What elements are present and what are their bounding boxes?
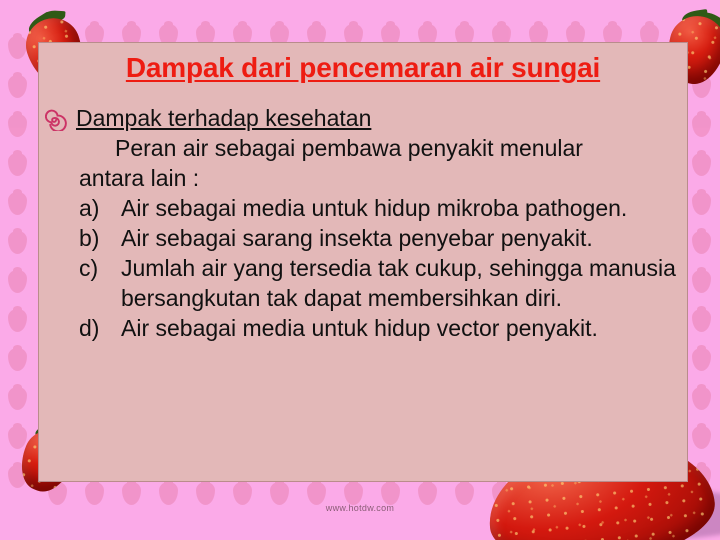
content-panel: Dampak dari pencemaran air sungai Dampak… bbox=[38, 42, 688, 482]
strawberry-shadow bbox=[520, 488, 720, 540]
strawberry-silhouette-icon bbox=[8, 270, 27, 293]
strawberry-silhouette-icon bbox=[233, 482, 252, 505]
strawberry-silhouette-icon bbox=[8, 387, 27, 410]
list-item: b)Air sebagai sarang insekta penyebar pe… bbox=[79, 223, 679, 253]
strawberry-silhouette-icon bbox=[566, 482, 585, 505]
list-item: a)Air sebagai media untuk hidup mikroba … bbox=[79, 193, 679, 223]
list-item-marker: a) bbox=[79, 193, 115, 223]
strawberry-silhouette-icon bbox=[307, 482, 326, 505]
body-intro-line-2: antara lain : bbox=[79, 163, 679, 193]
strawberry-silhouette-icon bbox=[8, 75, 27, 98]
list-item-text: Air sebagai media untuk hidup vector pen… bbox=[121, 315, 598, 341]
list-item-text: Air sebagai media untuk hidup mikroba pa… bbox=[121, 195, 627, 221]
strawberry-leaf-icon bbox=[681, 9, 709, 25]
strawberry-silhouette-icon bbox=[692, 231, 711, 254]
strawberry-silhouette-icon bbox=[692, 192, 711, 215]
strawberry-silhouette-icon bbox=[48, 482, 67, 505]
berry-border-left bbox=[6, 22, 32, 502]
slide-canvas: Dampak dari pencemaran air sungai Dampak… bbox=[0, 0, 720, 540]
strawberry-leaf-icon bbox=[25, 11, 54, 36]
strawberry-silhouette-icon bbox=[692, 270, 711, 293]
strawberry-silhouette-icon bbox=[122, 482, 141, 505]
strawberry-silhouette-icon bbox=[8, 309, 27, 332]
berry-border-right bbox=[690, 22, 716, 502]
strawberry-silhouette-icon bbox=[640, 482, 659, 505]
list-item: d)Air sebagai media untuk hidup vector p… bbox=[79, 313, 679, 343]
strawberry-silhouette-icon bbox=[692, 75, 711, 98]
strawberry-silhouette-icon bbox=[692, 114, 711, 137]
body-heading-row: Dampak terhadap kesehatan bbox=[45, 103, 679, 133]
strawberry-silhouette-icon bbox=[8, 348, 27, 371]
body-heading-text: Dampak terhadap kesehatan bbox=[76, 103, 371, 133]
strawberry-silhouette-icon bbox=[8, 114, 27, 137]
strawberry-silhouette-icon bbox=[418, 482, 437, 505]
strawberry-silhouette-icon bbox=[159, 482, 178, 505]
strawberry-silhouette-icon bbox=[529, 482, 548, 505]
strawberry-silhouette-icon bbox=[692, 309, 711, 332]
strawberry-silhouette-icon bbox=[692, 426, 711, 449]
list-item: c)Jumlah air yang tersedia tak cukup, se… bbox=[79, 253, 679, 313]
strawberry-silhouette-icon bbox=[85, 482, 104, 505]
strawberry-silhouette-icon bbox=[8, 192, 27, 215]
page-title: Dampak dari pencemaran air sungai bbox=[39, 51, 687, 85]
strawberry-silhouette-icon bbox=[8, 36, 27, 59]
strawberry-silhouette-icon bbox=[692, 36, 711, 59]
strawberry-silhouette-icon bbox=[270, 482, 289, 505]
spiral-bullet-icon bbox=[45, 108, 67, 130]
lettered-list: a)Air sebagai media untuk hidup mikroba … bbox=[45, 193, 679, 343]
strawberry-leaf-icon bbox=[43, 10, 66, 23]
strawberry-silhouette-icon bbox=[692, 465, 711, 488]
strawberry-silhouette-icon bbox=[8, 465, 27, 488]
strawberry-silhouette-icon bbox=[8, 231, 27, 254]
strawberry-silhouette-icon bbox=[692, 153, 711, 176]
strawberry-silhouette-icon bbox=[455, 482, 474, 505]
slide-body: Dampak terhadap kesehatan Peran air seba… bbox=[39, 103, 687, 343]
strawberry-silhouette-icon bbox=[603, 482, 622, 505]
strawberry-silhouette-icon bbox=[692, 348, 711, 371]
list-item-text: Air sebagai sarang insekta penyebar peny… bbox=[121, 225, 593, 251]
watermark-text: www.hotdw.com bbox=[0, 503, 720, 513]
strawberry-silhouette-icon bbox=[692, 387, 711, 410]
body-intro-line-1: Peran air sebagai pembawa penyakit menul… bbox=[79, 133, 679, 163]
strawberry-silhouette-icon bbox=[8, 426, 27, 449]
strawberry-silhouette-icon bbox=[344, 482, 363, 505]
list-item-marker: c) bbox=[79, 253, 115, 283]
strawberry-leaf-icon bbox=[698, 9, 720, 31]
list-item-marker: b) bbox=[79, 223, 115, 253]
list-item-marker: d) bbox=[79, 313, 115, 343]
strawberry-silhouette-icon bbox=[492, 482, 511, 505]
strawberry-silhouette-icon bbox=[196, 482, 215, 505]
strawberry-silhouette-icon bbox=[8, 153, 27, 176]
strawberry-silhouette-icon bbox=[381, 482, 400, 505]
list-item-text: Jumlah air yang tersedia tak cukup, sehi… bbox=[121, 255, 676, 311]
